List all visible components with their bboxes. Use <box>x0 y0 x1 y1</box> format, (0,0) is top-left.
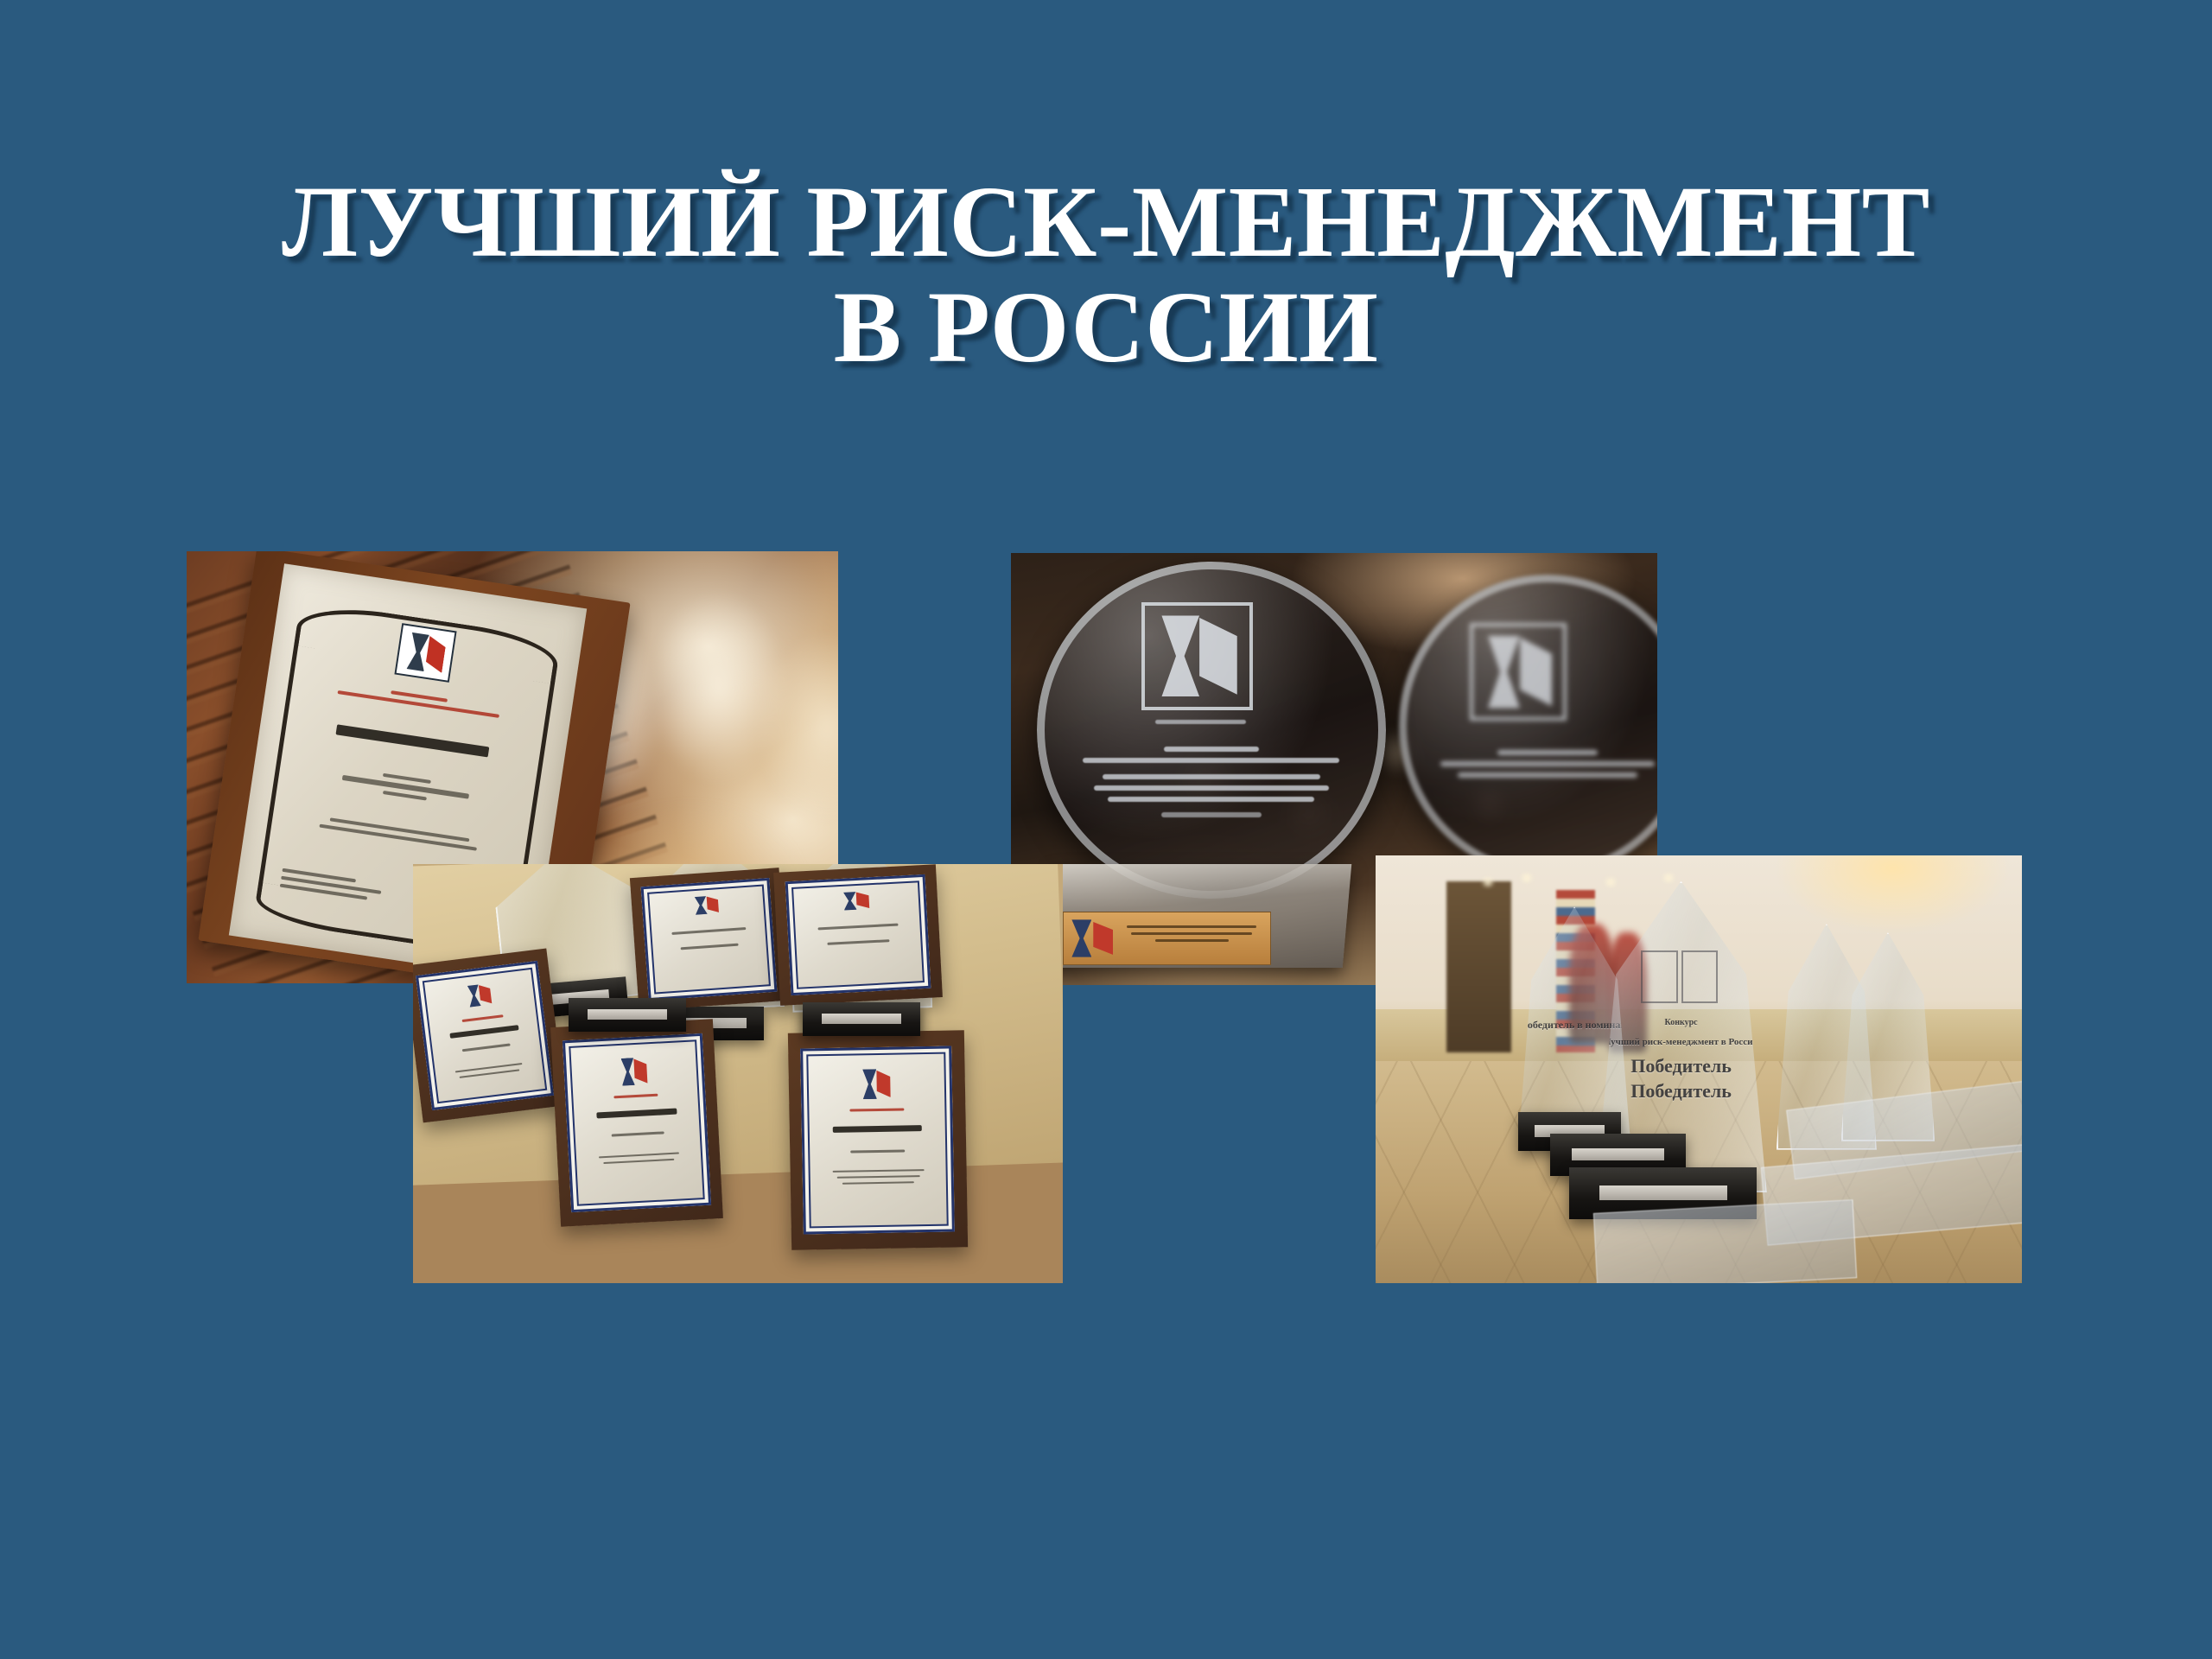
diploma-frame <box>551 1020 724 1228</box>
trophy-name-tag <box>822 1014 901 1024</box>
diploma-contest-name <box>462 1014 503 1022</box>
diploma-paper <box>563 1033 712 1212</box>
winner-label-text <box>1458 772 1637 778</box>
diploma-frame <box>773 864 943 1005</box>
wrapped-award-package <box>1593 1199 1858 1283</box>
diploma-recipient <box>851 1149 906 1153</box>
photo-diplomas-table <box>413 864 1063 1283</box>
photo-pointed-trophies: Победитель в номинации Конкурс «Лучший р… <box>1376 855 2022 1283</box>
plate-recipient-line-1 <box>1127 925 1256 928</box>
diploma-recipient <box>681 944 739 950</box>
contest-label-text <box>1497 750 1598 755</box>
diploma-nomination-line-1 <box>599 1153 679 1159</box>
diploma-recipient <box>828 939 890 945</box>
diploma-award-title <box>596 1109 677 1119</box>
trophy-name-tag <box>1599 1185 1727 1201</box>
slide-canvas: ЛУЧШИЙ РИСК-МЕНЕДЖМЕНТ В РОССИИ <box>0 0 2212 1659</box>
diploma-paper <box>416 960 555 1109</box>
contest-name-text <box>1440 761 1656 766</box>
rusrisk-logo-icon <box>395 622 457 682</box>
award-title-text <box>336 723 490 756</box>
nomination-line-2 <box>1108 797 1314 802</box>
trophy-name-tag <box>1572 1148 1664 1161</box>
city-year-text <box>1161 812 1262 817</box>
diploma-frame <box>413 948 565 1122</box>
trophy-base <box>569 998 685 1032</box>
rusrisk-logo-icon <box>1141 602 1253 710</box>
plate-recipient-line-3 <box>1155 939 1229 942</box>
diploma-nomination-line-1 <box>833 1169 925 1173</box>
winner-label-text: Победитель <box>1597 1055 1764 1077</box>
winner-label-text <box>1103 774 1320 779</box>
nomination-line-1 <box>1094 785 1328 791</box>
page-title: ЛУЧШИЙ РИСК-МЕНЕДЖМЕНТ В РОССИИ <box>0 169 2212 379</box>
title-line-1: ЛУЧШИЙ РИСК-МЕНЕДЖМЕНТ <box>0 169 2212 275</box>
rusrisk-logo-icon <box>842 891 871 911</box>
trophy-name-tag <box>588 1009 667 1020</box>
rusrisk-logo-icon <box>620 1058 650 1086</box>
ceiling-spotlight-icon <box>1660 873 1677 883</box>
ceiling-spotlight-icon <box>1518 873 1535 883</box>
recipient-plate <box>1063 912 1271 965</box>
diploma-frame <box>788 1030 968 1249</box>
diploma-recipient <box>612 1131 664 1136</box>
rusrisk-logo-icon <box>1071 919 1091 957</box>
rusrisk-logo-icon <box>861 1069 893 1099</box>
plate-recipient-line-2 <box>1131 932 1252 935</box>
rusrisk-logo-icon <box>467 982 493 1007</box>
contest-name-text: «Лучший риск-менеджмент в России» <box>1597 1037 1764 1047</box>
diploma-award-title <box>833 1125 922 1133</box>
rusrisk-logo-icon-red <box>1093 922 1113 955</box>
contest-label-text: Конкурс <box>1597 1018 1764 1027</box>
diploma-paper <box>801 1046 956 1234</box>
main-round-award <box>1037 562 1386 899</box>
ceiling-spotlight-icon <box>1602 877 1619 887</box>
contest-label-text <box>1164 747 1259 752</box>
diploma-nomination-line-3 <box>842 1182 914 1185</box>
ceiling-spotlight-icon <box>1479 877 1497 887</box>
trophy-base <box>803 1002 919 1036</box>
diploma-paper <box>785 874 931 995</box>
diploma-contest-name <box>613 1094 658 1099</box>
diploma-award-title <box>671 927 746 935</box>
rusrisk-logo-caption <box>1155 720 1246 724</box>
rusrisk-logo-icon <box>1681 950 1719 1003</box>
contest-name-text <box>1083 758 1339 763</box>
doorway <box>1446 881 1511 1052</box>
rusrisk-logo-icon <box>1470 623 1566 721</box>
rusrisk-logo-icon <box>1641 950 1678 1003</box>
winner-label-text-2: Победитель <box>1597 1080 1764 1103</box>
diploma-contest-name <box>850 1109 905 1112</box>
diploma-recipient <box>462 1043 510 1052</box>
diploma-paper <box>640 877 777 1000</box>
diploma-nomination-line-2 <box>604 1159 675 1164</box>
rusrisk-logo-icon <box>693 894 720 914</box>
diploma-frame <box>630 868 789 1010</box>
title-line-2: В РОССИИ <box>0 275 2212 380</box>
diploma-nomination-line-2 <box>837 1176 920 1179</box>
diploma-award-title <box>817 923 898 930</box>
